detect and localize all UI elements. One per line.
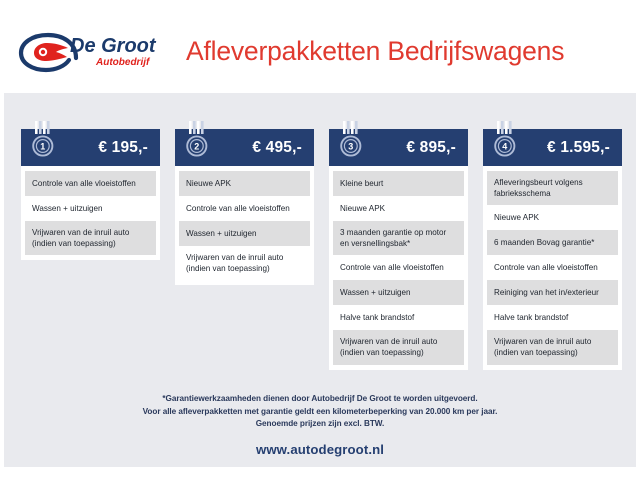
package-card-2[interactable]: 2 € 495,- Nieuwe APK Controle van alle v… — [175, 129, 314, 285]
list-item: Vrijwaren van de inruil auto(indien van … — [179, 246, 310, 280]
list-item: Afleveringsbeurt volgensfabrieksschema — [487, 171, 618, 205]
list-item: Kleine beurt — [333, 171, 464, 196]
list-item: Vrijwaren van de inruil auto(indien van … — [333, 330, 464, 364]
list-item: Nieuwe APK — [333, 196, 464, 221]
package-card-4[interactable]: 4 € 1.595,- Afleveringsbeurt volgensfabr… — [483, 129, 622, 370]
footnotes: *Garantiewerkzaamheden dienen door Autob… — [4, 393, 636, 431]
list-item: Vrijwaren van de inruil auto(indien van … — [25, 221, 156, 255]
badge-number: 3 — [348, 142, 353, 152]
company-logo: De Groot Autobedrijf — [18, 28, 168, 74]
package-price-4: € 1.595,- — [547, 139, 610, 157]
package-items-2: Nieuwe APK Controle van alle vloeistoffe… — [175, 166, 314, 285]
footnote-line: Voor alle afleverpakketten met garantie … — [4, 406, 636, 419]
badge-number: 2 — [194, 142, 199, 152]
package-price-2: € 495,- — [252, 139, 302, 157]
badge-number: 1 — [40, 142, 45, 152]
promo-page: De Groot Autobedrijf Afleverpakketten Be… — [0, 0, 640, 480]
list-item: Controle van alle vloeistoffen — [333, 255, 464, 280]
package-price-header-3: 3 € 895,- — [329, 129, 468, 166]
list-item: Controle van alle vloeistoffen — [179, 196, 310, 221]
package-columns: 1 € 195,- Controle van alle vloeistoffen… — [4, 93, 636, 378]
badge-number: 4 — [502, 142, 507, 152]
package-card-1[interactable]: 1 € 195,- Controle van alle vloeistoffen… — [21, 129, 160, 260]
page-header: De Groot Autobedrijf Afleverpakketten Be… — [0, 0, 640, 93]
footnote-line: *Garantiewerkzaamheden dienen door Autob… — [4, 393, 636, 406]
list-item: Wassen + uitzuigen — [25, 196, 156, 221]
package-price-3: € 895,- — [406, 139, 456, 157]
package-items-3: Kleine beurt Nieuwe APK 3 maanden garant… — [329, 166, 468, 370]
de-groot-logo-icon: De Groot Autobedrijf — [18, 28, 168, 74]
package-items-1: Controle van alle vloeistoffen Wassen + … — [21, 166, 160, 260]
package-card-3[interactable]: 3 € 895,- Kleine beurt Nieuwe APK 3 maan… — [329, 129, 468, 370]
list-item: 6 maanden Bovag garantie* — [487, 230, 618, 255]
content-area: 1 € 195,- Controle van alle vloeistoffen… — [4, 93, 636, 467]
list-item: Reiniging van het in/exterieur — [487, 280, 618, 305]
list-item: Halve tank brandstof — [333, 305, 464, 330]
package-items-4: Afleveringsbeurt volgensfabrieksschema N… — [483, 166, 622, 370]
list-item: Halve tank brandstof — [487, 305, 618, 330]
page-title: Afleverpakketten Bedrijfswagens — [186, 36, 564, 67]
website-link[interactable]: www.autodegroot.nl — [4, 442, 636, 457]
package-price-header-2: 2 € 495,- — [175, 129, 314, 166]
medal-icon: 3 — [336, 121, 366, 166]
medal-icon: 1 — [28, 121, 58, 166]
list-item: Nieuwe APK — [179, 171, 310, 196]
medal-icon: 4 — [490, 121, 520, 166]
svg-text:De Groot: De Groot — [70, 35, 157, 57]
list-item: Wassen + uitzuigen — [179, 221, 310, 246]
list-item: Wassen + uitzuigen — [333, 280, 464, 305]
package-price-header-1: 1 € 195,- — [21, 129, 160, 166]
list-item: Vrijwaren van de inruil auto(indien van … — [487, 330, 618, 364]
list-item: Controle van alle vloeistoffen — [25, 171, 156, 196]
list-item: Controle van alle vloeistoffen — [487, 255, 618, 280]
list-item: Nieuwe APK — [487, 205, 618, 230]
footnote-line: Genoemde prijzen zijn excl. BTW. — [4, 418, 636, 431]
list-item: 3 maanden garantie op motoren versnellin… — [333, 221, 464, 255]
package-price-1: € 195,- — [98, 139, 148, 157]
medal-icon: 2 — [182, 121, 212, 166]
svg-text:Autobedrijf: Autobedrijf — [95, 57, 151, 68]
package-price-header-4: 4 € 1.595,- — [483, 129, 622, 166]
